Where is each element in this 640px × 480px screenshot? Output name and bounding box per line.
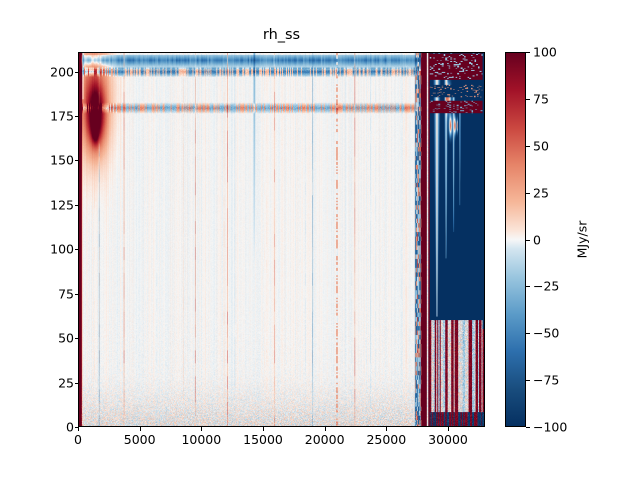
- colorbar-tick-label: 25: [533, 185, 549, 200]
- colorbar-gradient: [506, 53, 525, 426]
- colorbar-tick-label: −100: [533, 420, 567, 435]
- matplotlib-figure: rh_ss MJy/sr 050001000015000200002500030…: [0, 0, 640, 480]
- heatmap-image: [79, 53, 484, 426]
- colorbar-tick: [526, 52, 530, 53]
- colorbar-tick: [526, 427, 530, 428]
- y-axis-tick: [75, 160, 79, 161]
- x-axis-tick-label: 0: [74, 432, 82, 447]
- colorbar-tick-label: 100: [533, 45, 557, 60]
- y-axis-tick: [75, 383, 79, 384]
- y-axis-tick: [75, 294, 79, 295]
- y-axis-tick: [75, 72, 79, 73]
- colorbar: [505, 52, 526, 427]
- colorbar-tick: [526, 333, 530, 334]
- colorbar-tick: [526, 99, 530, 100]
- colorbar-tick-label: −50: [533, 326, 559, 341]
- colorbar-tick: [526, 193, 530, 194]
- x-axis-tick-label: 30000: [428, 432, 468, 447]
- colorbar-axis-label: MJy/sr: [573, 52, 591, 427]
- y-axis-tick-label: 200: [50, 64, 74, 79]
- x-axis-tick: [325, 427, 326, 431]
- x-axis-tick: [201, 427, 202, 431]
- colorbar-tick: [526, 240, 530, 241]
- x-axis-tick-label: 25000: [366, 432, 406, 447]
- colorbar-tick-label: −25: [533, 279, 559, 294]
- y-axis-tick: [75, 249, 79, 250]
- y-axis-tick-label: 150: [50, 153, 74, 168]
- y-axis-tick-label: 0: [66, 420, 74, 435]
- colorbar-tick: [526, 286, 530, 287]
- colorbar-tick: [526, 380, 530, 381]
- colorbar-tick-label: 0: [533, 232, 541, 247]
- x-axis-tick-label: 15000: [243, 432, 283, 447]
- colorbar-tick-label: 50: [533, 138, 549, 153]
- y-axis-tick: [75, 338, 79, 339]
- x-axis-tick: [78, 427, 79, 431]
- x-axis-tick-label: 10000: [181, 432, 221, 447]
- x-axis-tick: [263, 427, 264, 431]
- page-title: rh_ss: [78, 27, 485, 43]
- x-axis-tick: [448, 427, 449, 431]
- y-axis-tick: [75, 427, 79, 428]
- y-axis-tick: [75, 116, 79, 117]
- y-axis-tick-label: 50: [58, 331, 74, 346]
- y-axis-tick-label: 25: [58, 375, 74, 390]
- colorbar-tick-label: −75: [533, 373, 559, 388]
- x-axis-tick-label: 5000: [124, 432, 156, 447]
- x-axis-tick-label: 20000: [305, 432, 345, 447]
- y-axis-tick-label: 75: [58, 286, 74, 301]
- y-axis-tick-label: 125: [50, 197, 74, 212]
- y-axis-tick-label: 175: [50, 108, 74, 123]
- y-axis-tick: [75, 205, 79, 206]
- colorbar-tick-label: 75: [533, 91, 549, 106]
- x-axis-tick: [140, 427, 141, 431]
- colorbar-tick: [526, 146, 530, 147]
- heatmap-axes: [78, 52, 485, 427]
- x-axis-tick: [386, 427, 387, 431]
- y-axis-tick-label: 100: [50, 242, 74, 257]
